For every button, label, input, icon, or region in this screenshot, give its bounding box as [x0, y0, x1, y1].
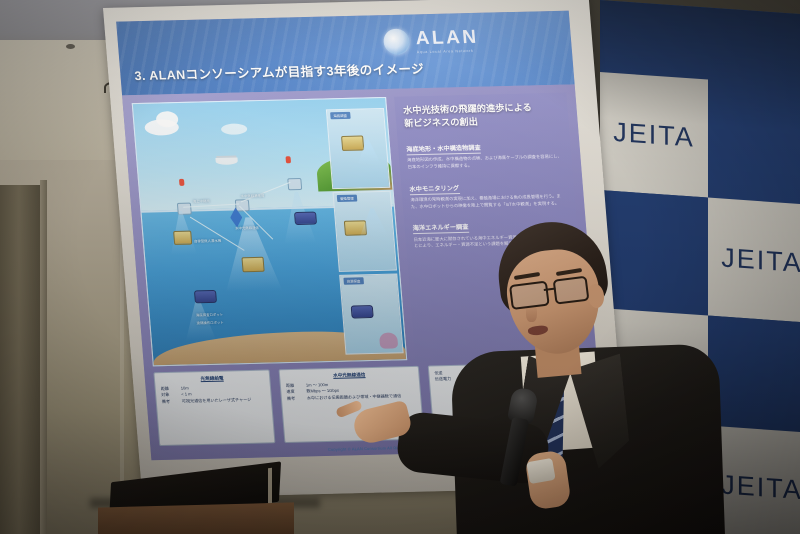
underwater-robot-icon [173, 231, 192, 245]
auv-icon [194, 290, 217, 303]
screenshot-root: Japan Ele JEITA JEITA JEITA ALAN [0, 0, 800, 534]
panel-section: 水中モニタリング 海洋環境の常時観測の実現に加え、養殖漁場における魚の成長管理を… [400, 167, 575, 211]
spec-box: 光無線給電 距離 10m 対象 < 1 m 備考 可視光通信を用いたレーザ式チャ… [153, 369, 275, 446]
slide-title: 3. ALANコンソーシアムが目指す3年後のイメージ [134, 58, 425, 84]
inset-panel: 養殖管理 [333, 191, 397, 272]
illustration-label: 水中光無線通信 [235, 225, 259, 231]
slide-header: ALAN Aqua Local Area Network 3. ALANコンソー… [116, 11, 575, 96]
coral-shape [379, 332, 398, 348]
alan-tagline: Aqua Local Area Network [417, 48, 480, 54]
podium [98, 502, 294, 534]
spec-box-title: 光無線給電 [160, 375, 265, 384]
door [0, 185, 42, 534]
ceiling-fixture [66, 44, 75, 49]
illustration-label: 水中無線基地局 [240, 193, 264, 199]
underwater-robot-icon [341, 135, 364, 150]
alan-wordmark: ALAN [415, 27, 479, 47]
backdrop-tile-blue [600, 0, 708, 80]
buoy-icon [179, 179, 185, 186]
relay-node-icon [287, 178, 302, 190]
backdrop-logo-text: JEITA [721, 242, 800, 279]
backdrop-tile-blue [708, 8, 800, 206]
inset-panel: 資源探査 [339, 273, 403, 354]
shirt-cuff [526, 458, 555, 484]
spec-row: 備考 可視光通信を用いたレーザ式チャージ [162, 396, 267, 405]
underwater-robot-icon [241, 257, 264, 272]
spec-key: 備考 [162, 398, 183, 405]
spec-key: 備考 [287, 395, 308, 402]
inset-caption: 海底調査 [330, 112, 350, 119]
door-frame [40, 180, 47, 534]
buoy-icon [285, 156, 291, 163]
inset-caption: 養殖管理 [337, 195, 357, 202]
spec-box-title: 水中光無線通信 [285, 371, 414, 380]
spec-value: 可視光通信を用いたレーザ式チャージ [182, 396, 267, 404]
inset-caption: 資源探査 [343, 277, 363, 284]
presenter [432, 222, 732, 534]
lens-left [509, 281, 550, 310]
alan-emblem-icon [383, 28, 411, 55]
backdrop-logo-text: JEITA [613, 116, 695, 153]
illustration-label: 海上中継局 [193, 198, 210, 203]
slide-illustration: 海上中継局 水中無線基地局 水中光無線通信 自律型無人潜水機 海底探査ロボット … [132, 97, 407, 366]
alan-logo: ALAN Aqua Local Area Network [383, 27, 480, 55]
section-title: 水中モニタリング [409, 183, 459, 195]
lens-right [553, 276, 590, 305]
auv-icon [294, 212, 317, 225]
auv-icon [351, 305, 374, 318]
illustration-label: 遠隔操作ロボット [196, 320, 224, 326]
panel-section: 海底地形・水中構造物調査 海底地形図の作成、水中構造物の点検、および海底ケーブル… [397, 127, 572, 171]
backdrop-tile-cream: JEITA [600, 72, 708, 198]
illustration-label: 海底探査ロボット [196, 312, 224, 318]
illustration-label: 自律型無人潜水機 [194, 238, 222, 244]
inset-panel: 海底調査 [326, 108, 390, 189]
backdrop-logo-text: JEITA [721, 469, 800, 506]
section-title: 海底地形・水中構造物調査 [406, 142, 481, 155]
